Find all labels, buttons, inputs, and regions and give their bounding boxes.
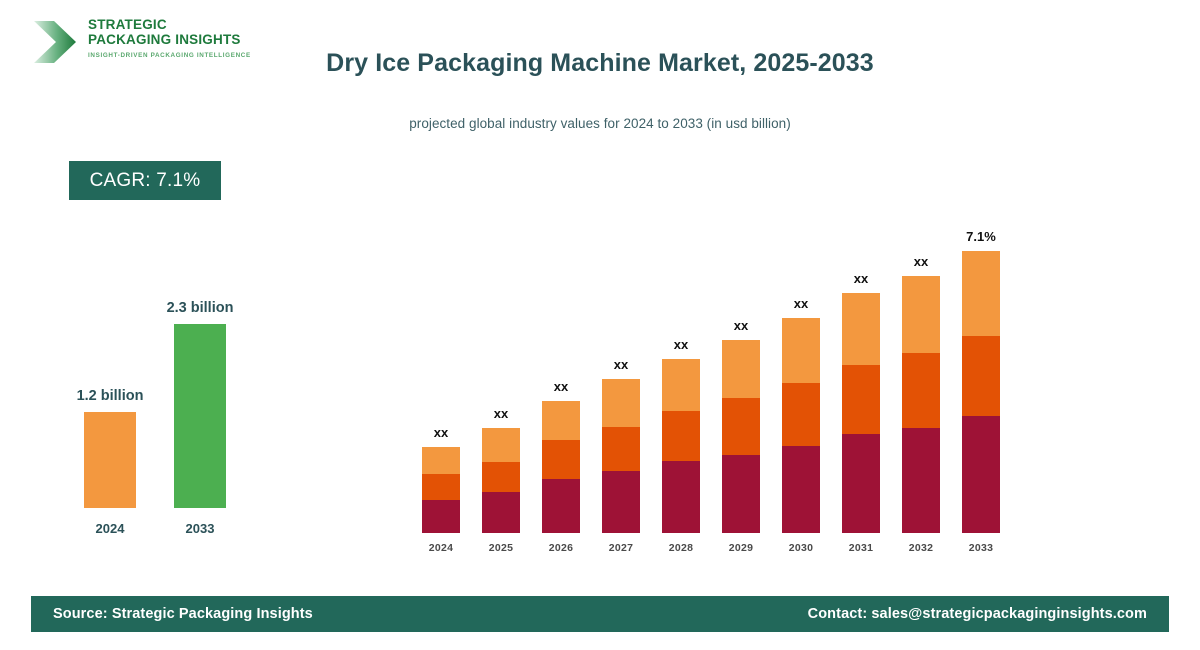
- stacked-bar-segment-segment-bottom: [662, 461, 700, 533]
- stacked-bar-segment-segment-bottom: [482, 492, 520, 533]
- stacked-bar-top-label: 7.1%: [941, 229, 1021, 244]
- stacked-bar: [422, 447, 460, 533]
- stacked-bar: [962, 251, 1000, 533]
- stacked-bar-segment-segment-middle: [662, 411, 700, 461]
- stacked-bar-segment-segment-middle: [902, 353, 940, 428]
- stacked-bar-top-label: xx: [761, 296, 841, 311]
- stacked-bar-segment-segment-top: [722, 340, 760, 398]
- footer-bar: Source: Strategic Packaging Insights Con…: [31, 596, 1169, 632]
- stacked-bar-segment-segment-bottom: [422, 500, 460, 533]
- page-subtitle: projected global industry values for 202…: [300, 116, 900, 131]
- stacked-bar-segment-segment-bottom: [602, 471, 640, 533]
- stacked-bar-chart: xx2024xx2025xx2026xx2027xx2028xx2029xx20…: [405, 200, 1015, 560]
- comparison-bar-year-label: 2024: [65, 521, 155, 536]
- stacked-bar-segment-segment-top: [482, 428, 520, 462]
- stacked-bar-top-label: xx: [461, 406, 541, 421]
- stacked-bar-top-label: xx: [401, 425, 481, 440]
- comparison-bar-value-label: 1.2 billion: [30, 388, 190, 404]
- stacked-bar: [662, 359, 700, 533]
- stacked-bar-segment-segment-bottom: [842, 434, 880, 533]
- stacked-bar-top-label: xx: [641, 337, 721, 352]
- comparison-bar-plot: 1.2 billion20242.3 billion2033: [40, 300, 290, 538]
- brand-tagline: INSIGHT-DRIVEN PACKAGING INTELLIGENCE: [88, 52, 258, 59]
- comparison-bar-chart: 1.2 billion20242.3 billion2033: [40, 300, 290, 568]
- stacked-bar-segment-segment-bottom: [542, 479, 580, 533]
- stacked-bar-year-label: 2033: [946, 542, 1016, 554]
- stacked-bar-segment-segment-bottom: [962, 416, 1000, 533]
- stacked-bar-segment-segment-top: [542, 401, 580, 440]
- comparison-bar-value-label: 2.3 billion: [120, 300, 280, 316]
- stacked-bar-top-label: xx: [521, 379, 601, 394]
- stacked-bar: [902, 276, 940, 533]
- cagr-badge: CAGR: 7.1%: [69, 161, 221, 200]
- stacked-bar-segment-segment-middle: [542, 440, 580, 479]
- footer-source: Source: Strategic Packaging Insights: [53, 606, 313, 622]
- brand-wordmark: STRATEGIC PACKAGING INSIGHTS INSIGHT-DRI…: [88, 17, 258, 59]
- brand-logo: STRATEGIC PACKAGING INSIGHTS INSIGHT-DRI…: [30, 14, 260, 76]
- brand-name-line2: PACKAGING INSIGHTS: [88, 32, 258, 47]
- stacked-bar-segment-segment-middle: [722, 398, 760, 455]
- stacked-bar-top-label: xx: [581, 357, 661, 372]
- stacked-bar: [722, 340, 760, 533]
- stacked-bar-top-label: xx: [881, 254, 961, 269]
- stacked-bar-segment-segment-bottom: [902, 428, 940, 533]
- footer-contact: Contact: sales@strategicpackaginginsight…: [808, 606, 1147, 622]
- stacked-bar-segment-segment-top: [842, 293, 880, 365]
- stacked-bar: [482, 428, 520, 533]
- stacked-bar-top-label: xx: [701, 318, 781, 333]
- brand-name-line1: STRATEGIC: [88, 17, 258, 32]
- comparison-bar-year-label: 2033: [155, 521, 245, 536]
- stacked-bar-segment-segment-bottom: [722, 455, 760, 533]
- stacked-bar-segment-segment-middle: [602, 427, 640, 471]
- stacked-bar-segment-segment-top: [422, 447, 460, 474]
- chevron-logo-icon: [30, 18, 80, 66]
- stacked-bar-segment-segment-middle: [482, 462, 520, 492]
- stacked-bar-segment-segment-top: [602, 379, 640, 427]
- stacked-bar-segment-segment-middle: [962, 336, 1000, 416]
- comparison-bar: [174, 324, 226, 508]
- stacked-bar-segment-segment-top: [782, 318, 820, 383]
- comparison-bar: [84, 412, 136, 508]
- stacked-bar-segment-segment-middle: [782, 383, 820, 446]
- stacked-bar: [842, 293, 880, 533]
- stacked-bar-segment-segment-top: [902, 276, 940, 353]
- stacked-bar-segment-segment-middle: [842, 365, 880, 435]
- stacked-bar-top-label: xx: [821, 271, 901, 286]
- stacked-bar-segment-segment-top: [962, 251, 1000, 336]
- stacked-bar-segment-segment-top: [662, 359, 700, 411]
- page-title: Dry Ice Packaging Machine Market, 2025-2…: [300, 44, 900, 82]
- stacked-bar: [782, 318, 820, 533]
- stacked-bar-segment-segment-middle: [422, 474, 460, 500]
- stacked-bar: [542, 401, 580, 533]
- stacked-bar: [602, 379, 640, 533]
- stacked-bar-segment-segment-bottom: [782, 446, 820, 533]
- chart-canvas: STRATEGIC PACKAGING INSIGHTS INSIGHT-DRI…: [0, 0, 1200, 650]
